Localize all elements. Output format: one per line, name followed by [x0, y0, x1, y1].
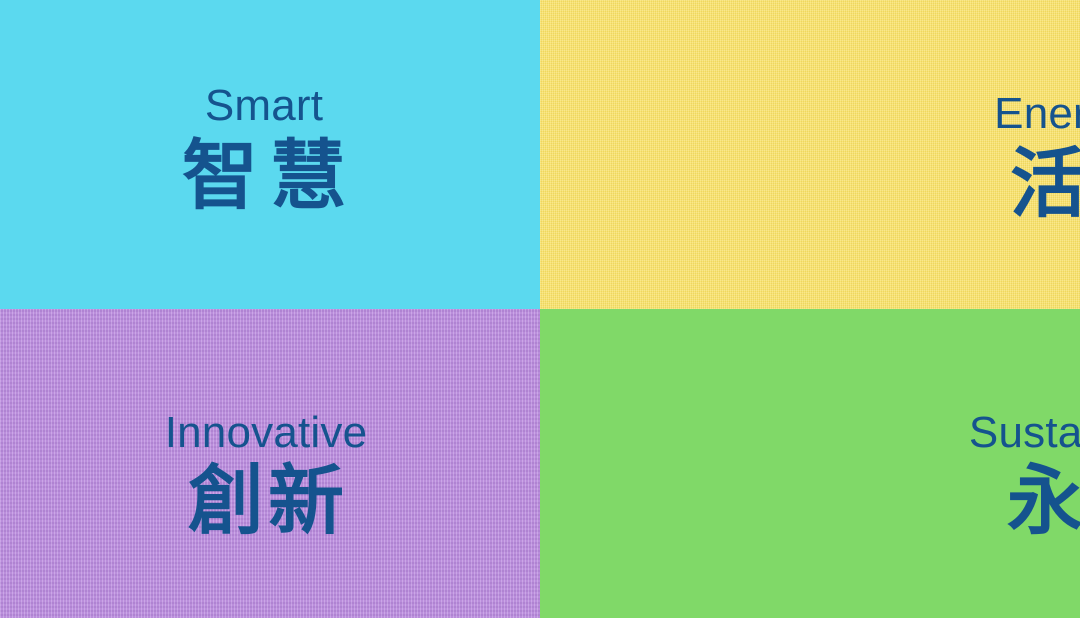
quadrant-energetic-english-label: Energetic: [994, 92, 1080, 136]
quadrant-energetic-chinese-label: 活力: [1006, 144, 1080, 224]
brand-values-canvas: Smart 智慧 Energetic 活力 Innovative 創新 Sust…: [0, 0, 1080, 618]
quadrant-smart[interactable]: Smart 智慧: [0, 0, 540, 309]
quadrant-smart-chinese-label: 智慧: [170, 136, 358, 216]
quadrant-energetic[interactable]: Energetic 活力: [540, 0, 1080, 309]
quadrant-grid: Smart 智慧 Energetic 活力 Innovative 創新 Sust…: [0, 0, 1080, 618]
label-block-energetic: Energetic 活力: [818, 0, 1080, 224]
quadrant-sustainable-chinese-label: 永續: [1003, 461, 1080, 541]
quadrant-sustainable[interactable]: Sustainable 永續: [540, 309, 1080, 618]
quadrant-sustainable-english-label: Sustainable: [969, 411, 1080, 455]
quadrant-innovative[interactable]: Innovative 創新: [0, 309, 540, 618]
label-block-smart: Smart 智慧: [0, 0, 534, 216]
quadrant-smart-english-label: Smart: [205, 84, 323, 128]
quadrant-innovative-chinese-label: 創新: [184, 461, 348, 541]
quadrant-innovative-english-label: Innovative: [165, 411, 368, 455]
label-block-sustainable: Sustainable 永續: [815, 309, 1080, 541]
label-block-innovative: Innovative 創新: [0, 309, 536, 541]
